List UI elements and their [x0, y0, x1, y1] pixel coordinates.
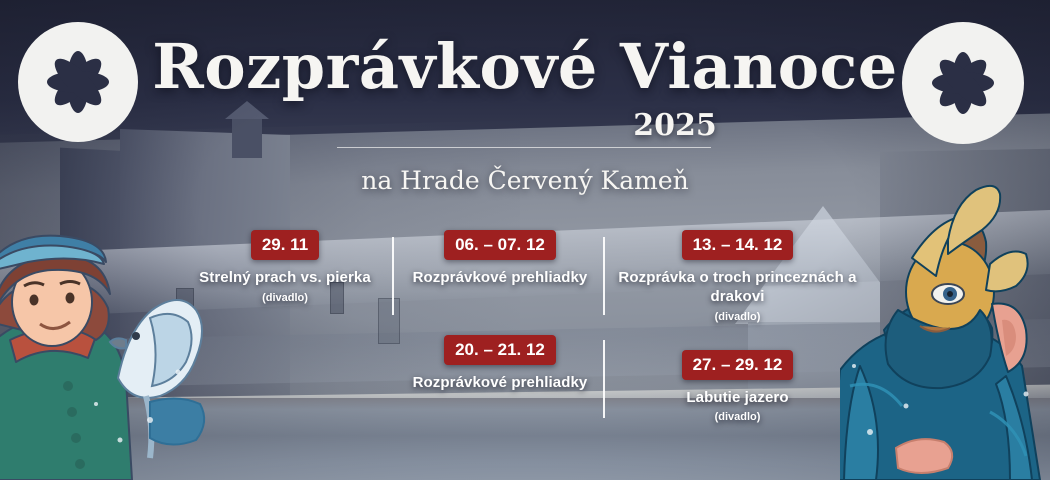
- event-date-badge: 06. – 07. 12: [444, 230, 556, 260]
- year-label: 2025: [0, 108, 1050, 143]
- schedule-column: 29. 11 Strelný prach vs. pierka (divadlo…: [185, 230, 385, 304]
- page-title: Rozprávkové Vianoce: [0, 36, 1050, 98]
- event-title: Labutie jazero: [610, 389, 865, 408]
- event-item[interactable]: 06. – 07. 12 Rozprávkové prehliadky: [400, 230, 600, 288]
- event-title: Strelný prach vs. pierka: [185, 269, 385, 288]
- poster-root: Rozprávkové Vianoce 2025 na Hrade Červen…: [0, 0, 1050, 480]
- event-title: Rozprávkové prehliadky: [400, 269, 600, 288]
- event-date-badge: 27. – 29. 12: [682, 350, 794, 380]
- column-spacer: [400, 288, 600, 335]
- title-divider: [337, 147, 711, 148]
- event-item[interactable]: 29. 11 Strelný prach vs. pierka (divadlo…: [185, 230, 385, 304]
- event-kind: (divadlo): [185, 292, 385, 304]
- event-item[interactable]: 13. – 14. 12 Rozprávka o troch princezná…: [610, 230, 865, 323]
- event-title: Rozprávka o troch princeznách a drakovi: [610, 269, 865, 307]
- column-spacer: [610, 323, 865, 350]
- event-item[interactable]: 20. – 21. 12 Rozprávkové prehliadky: [400, 335, 600, 393]
- event-schedule: 29. 11 Strelný prach vs. pierka (divadlo…: [185, 230, 865, 430]
- event-date-badge: 29. 11: [251, 230, 319, 260]
- event-item[interactable]: 27. – 29. 12 Labutie jazero (divadlo): [610, 350, 865, 424]
- event-kind: (divadlo): [610, 311, 865, 323]
- horned-mask-man-illustration: [840, 180, 1050, 480]
- woman-with-falcon-illustration: [0, 190, 215, 480]
- event-kind: (divadlo): [610, 411, 865, 423]
- schedule-column: 13. – 14. 12 Rozprávka o troch princezná…: [610, 230, 865, 423]
- event-date-badge: 13. – 14. 12: [682, 230, 794, 260]
- schedule-column: 06. – 07. 12 Rozprávkové prehliadky 20. …: [400, 230, 600, 393]
- event-title: Rozprávkové prehliadky: [400, 374, 600, 393]
- event-date-badge: 20. – 21. 12: [444, 335, 556, 365]
